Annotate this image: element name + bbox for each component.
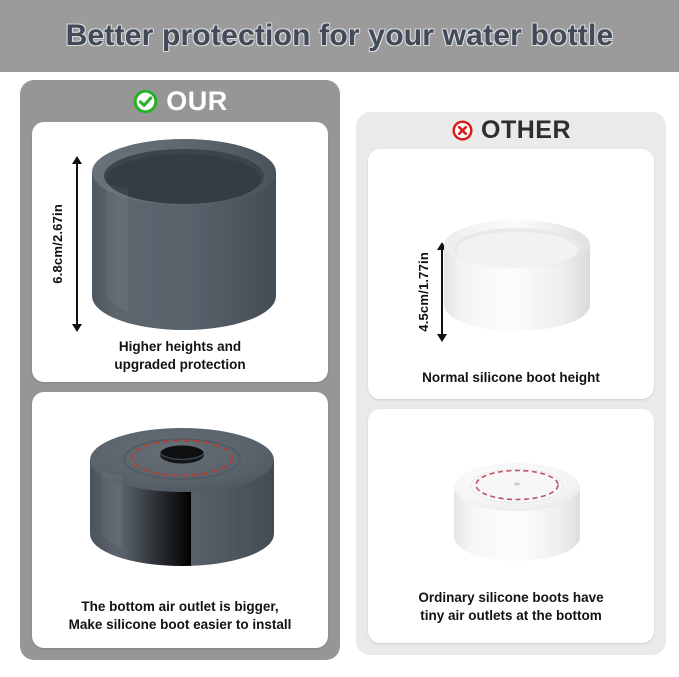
boot-white-inverted-graphic: [368, 433, 654, 613]
page-banner: Better protection for your water bottle: [0, 0, 679, 72]
product-illustration-other-upright: 4.5cm/1.77in: [368, 149, 654, 399]
product-illustration-our-upright: 6.8cm/2.67in: [32, 122, 328, 382]
product-illustration-other-inverted: Ordinary silicone boots have tiny air ou…: [368, 409, 654, 643]
caption-line-2: Make silicone boot easier to install: [40, 616, 320, 634]
card-our-air-outlet: The bottom air outlet is bigger, Make si…: [32, 392, 328, 648]
caption-line-1: Normal silicone boot height: [376, 369, 646, 387]
caption-other-air-outlet: Ordinary silicone boots have tiny air ou…: [368, 589, 654, 625]
column-header-other: OTHER: [356, 112, 666, 149]
caption-line-1: Higher heights and: [40, 338, 320, 356]
green-check-circle-icon: [132, 88, 159, 115]
page-title: Better protection for your water bottle: [66, 19, 614, 53]
caption-line-1: Ordinary silicone boots have: [376, 589, 646, 607]
card-our-height: 6.8cm/2.67in: [32, 122, 328, 382]
column-label-our: OUR: [166, 86, 228, 117]
caption-our-air-outlet: The bottom air outlet is bigger, Make si…: [32, 598, 328, 634]
comparison-column-other: OTHER 4.5cm/1.77in: [356, 112, 666, 655]
column-label-other: OTHER: [481, 116, 571, 145]
card-other-height: 4.5cm/1.77in: [368, 149, 654, 399]
caption-other-height: Normal silicone boot height: [368, 369, 654, 387]
caption-line-2: tiny air outlets at the bottom: [376, 607, 646, 625]
boot-dark-upright-graphic: [32, 136, 328, 366]
boot-dark-inverted-graphic: [32, 402, 328, 602]
caption-line-2: upgraded protection: [40, 356, 320, 374]
card-other-air-outlet: Ordinary silicone boots have tiny air ou…: [368, 409, 654, 643]
red-x-circle-icon: [451, 119, 474, 142]
caption-our-height: Higher heights and upgraded protection: [32, 338, 328, 374]
product-illustration-our-inverted: The bottom air outlet is bigger, Make si…: [32, 392, 328, 648]
column-header-our: OUR: [20, 80, 340, 122]
caption-line-1: The bottom air outlet is bigger,: [40, 598, 320, 616]
comparison-column-our: OUR 6.8cm/2.67in: [20, 80, 340, 660]
